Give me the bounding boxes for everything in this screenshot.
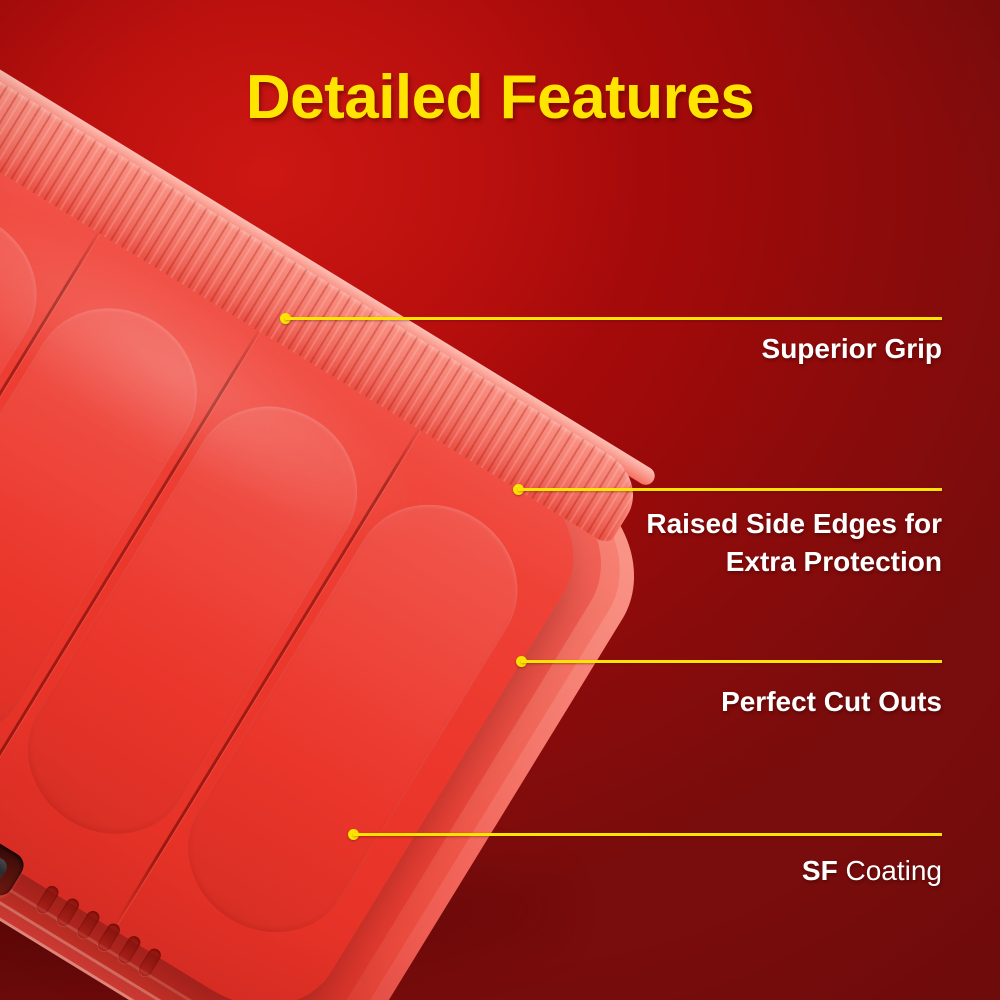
infographic-canvas: Detailed Features Superior Grip Raised S… xyxy=(0,0,1000,1000)
leader-line xyxy=(518,488,942,491)
background-vignette xyxy=(0,0,1000,1000)
callout-label-raised-side-edges: Raised Side Edges for Extra Protection xyxy=(442,505,942,581)
callout-label-sf-coating: SF Coating xyxy=(442,852,942,890)
page-title: Detailed Features xyxy=(0,62,1000,133)
leader-line xyxy=(521,660,942,663)
leader-line xyxy=(353,833,942,836)
callout-label-sf-coating-bold: SF xyxy=(802,855,838,886)
callout-label-perfect-cut-outs: Perfect Cut Outs xyxy=(442,683,942,721)
leader-line xyxy=(285,317,942,320)
callout-label-superior-grip: Superior Grip xyxy=(442,330,942,368)
callout-label-sf-coating-regular: Coating xyxy=(838,855,942,886)
